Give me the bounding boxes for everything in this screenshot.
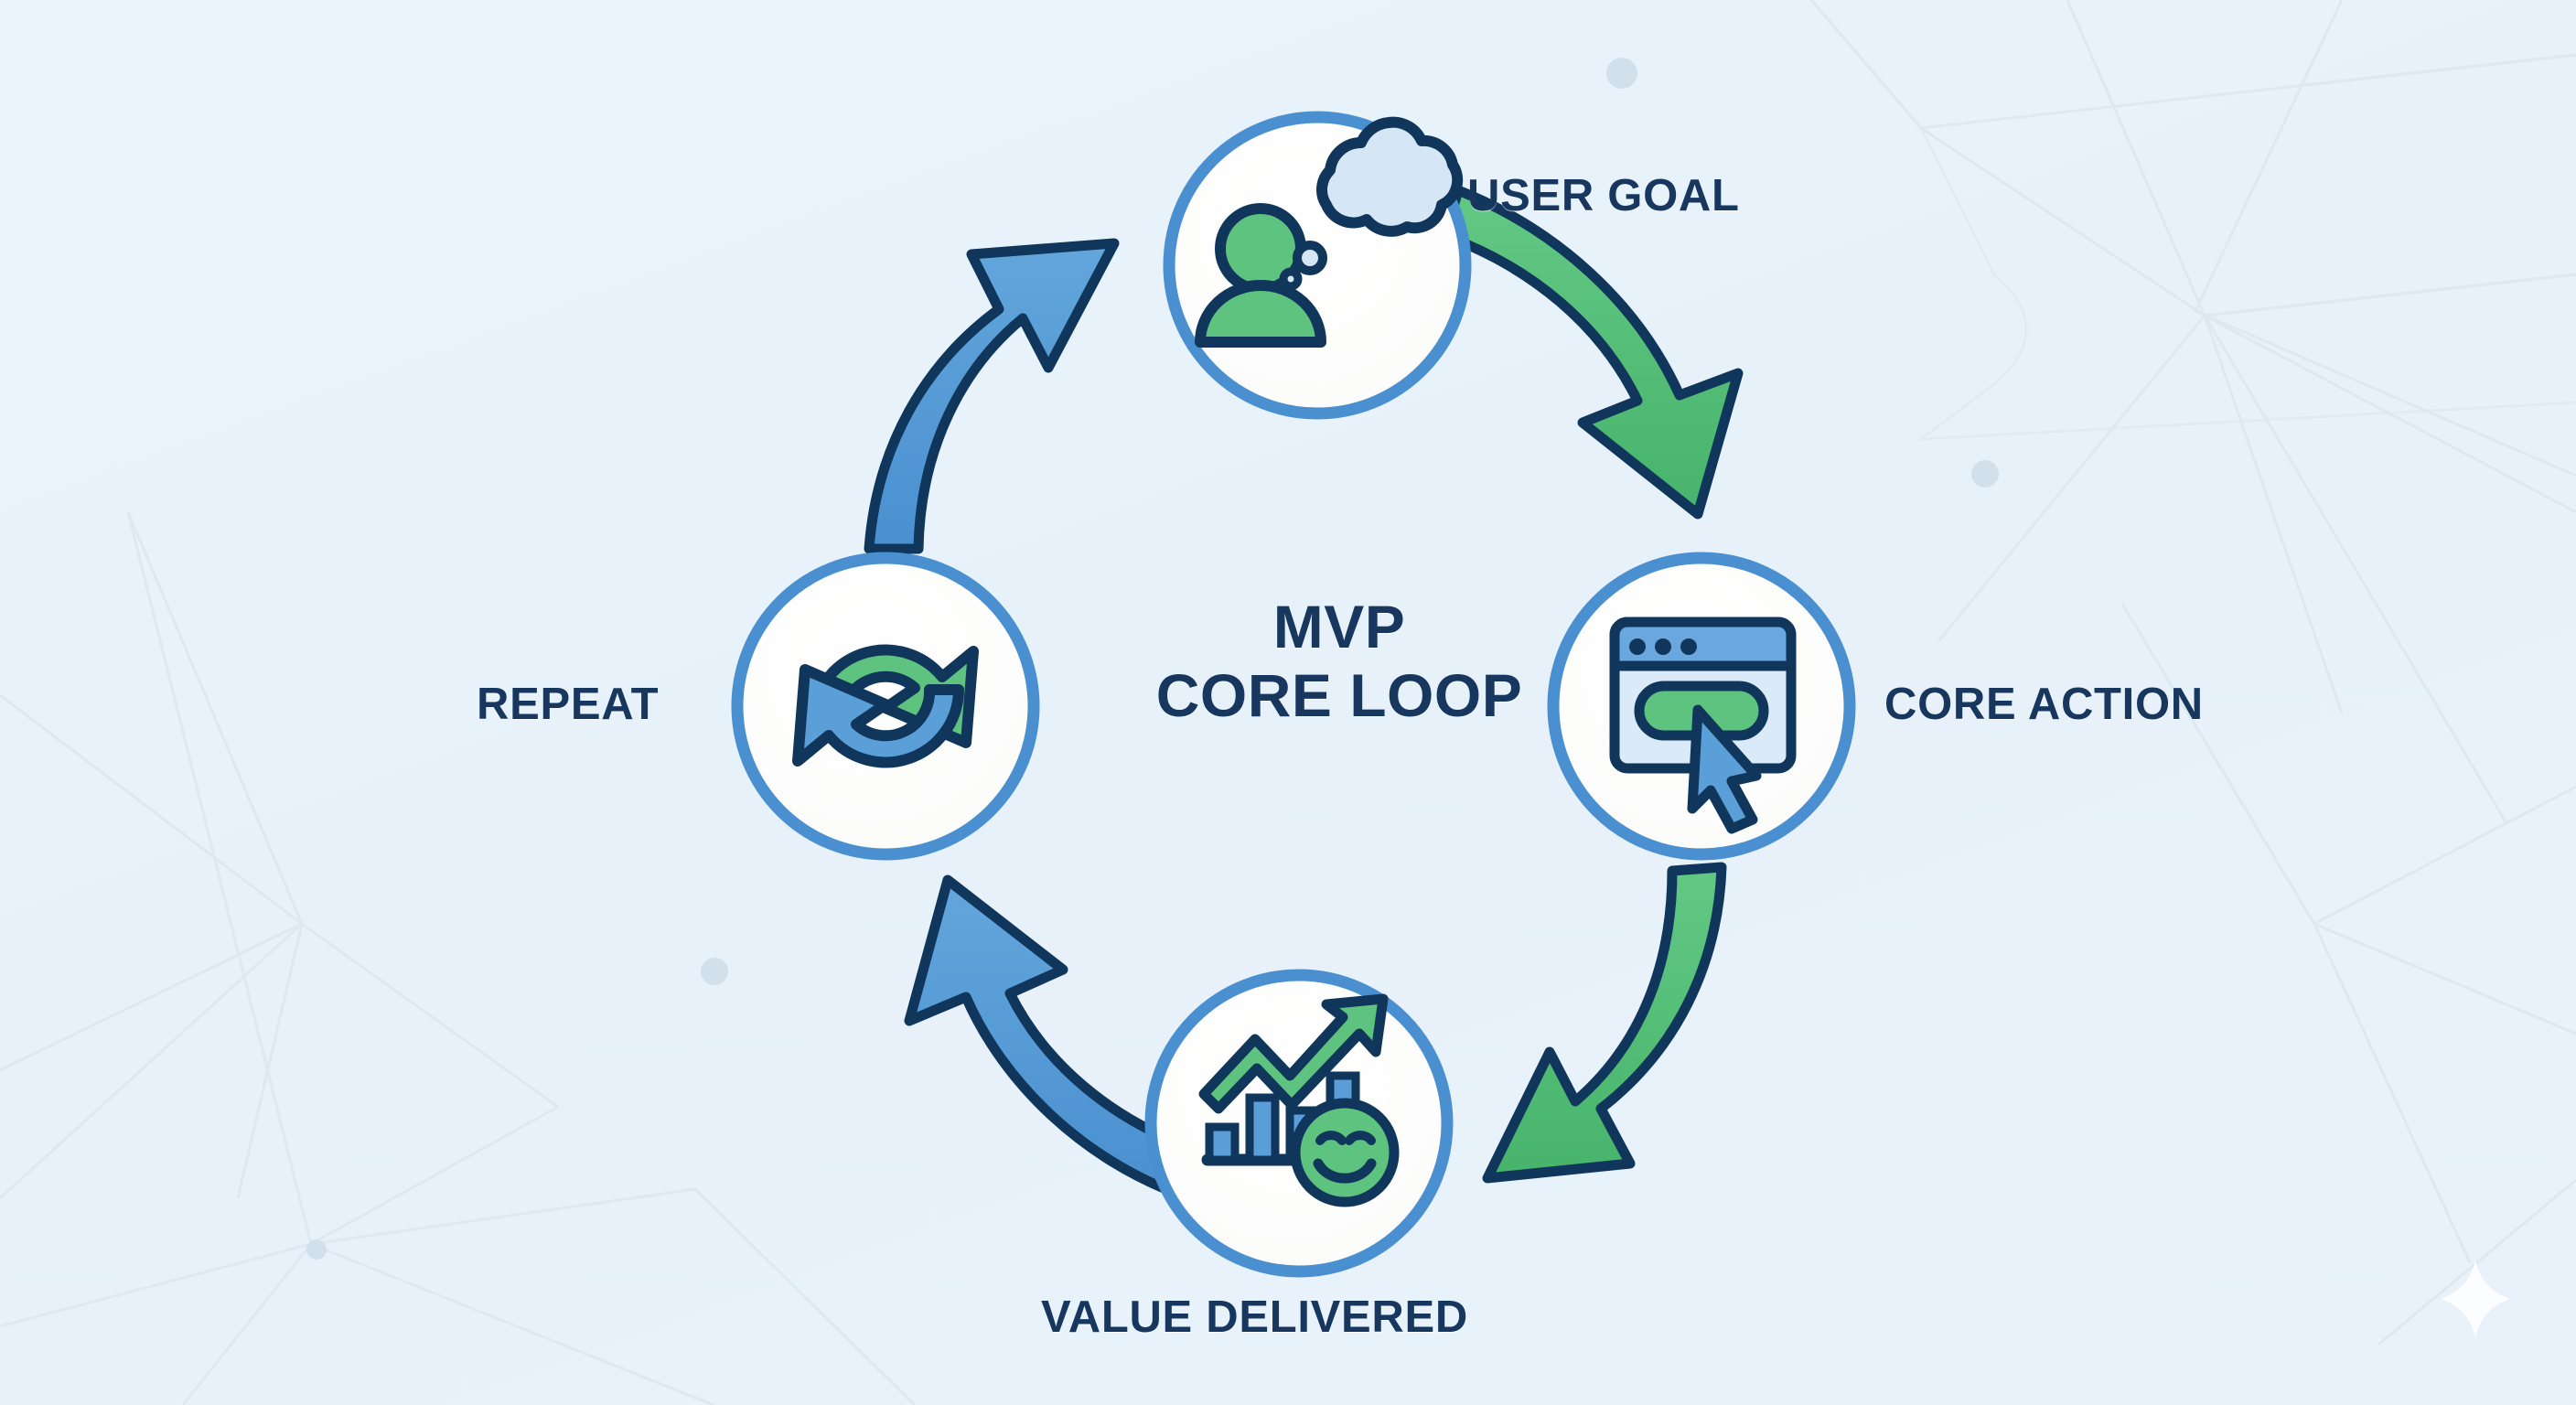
center-title: MVP CORE LOOP xyxy=(1083,593,1595,730)
label-value-delivered: VALUE DELIVERED xyxy=(1041,1292,1468,1343)
arrow-repeat-to-user-goal xyxy=(869,243,1114,549)
arrow-core-action-to-value xyxy=(1487,867,1722,1178)
center-title-line1: MVP xyxy=(1273,593,1406,660)
node-user-goal[interactable] xyxy=(1169,117,1465,413)
node-core-action[interactable] xyxy=(1553,558,1850,854)
diagram-canvas: USER GOAL CORE ACTION VALUE DELIVERED RE… xyxy=(0,0,2576,1405)
arrow-user-goal-to-core-action xyxy=(1445,190,1738,514)
label-repeat: REPEAT xyxy=(477,679,659,730)
node-repeat[interactable] xyxy=(737,558,1034,854)
label-core-action: CORE ACTION xyxy=(1884,679,2204,730)
label-user-goal: USER GOAL xyxy=(1467,170,1740,221)
node-value-delivered[interactable] xyxy=(1151,975,1447,1271)
center-title-line2: CORE LOOP xyxy=(1083,661,1595,730)
